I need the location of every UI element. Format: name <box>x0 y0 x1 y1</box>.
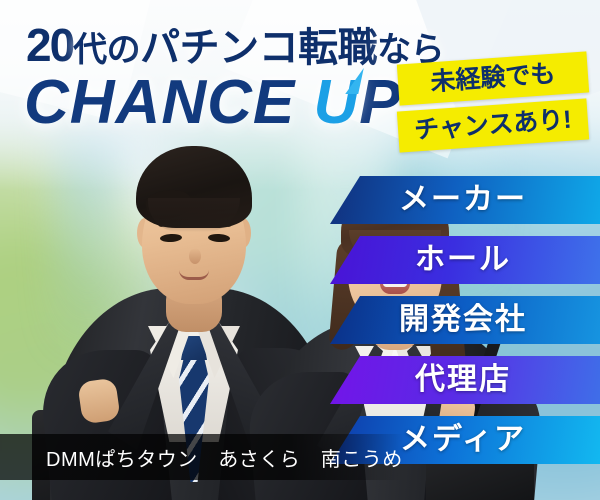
credit-text: DMMぱちタウン あさくら 南こうめ <box>0 443 403 472</box>
headline-age: 20 <box>26 19 73 71</box>
category-item-hall[interactable]: ホール <box>330 236 600 284</box>
logo-chance-up: CHANCE UP <box>24 72 402 134</box>
category-list: メーカー ホール 開発会社 代理店 メディア <box>330 176 600 464</box>
headline: 20代のパチンコ転職なら <box>26 22 444 68</box>
credit-band: DMMぱちタウン あさくら 南こうめ <box>0 434 404 480</box>
category-item-developer[interactable]: 開発会社 <box>330 296 600 344</box>
man-hand <box>77 378 120 425</box>
headline-keyword: パチンコ転職 <box>140 26 377 70</box>
category-label-agency: 代理店 <box>330 365 600 395</box>
catch-copy-badge: 未経験でも チャンスあり! <box>398 58 588 146</box>
catch-copy-line-2: チャンスあり! <box>397 98 589 152</box>
category-item-agency[interactable]: 代理店 <box>330 356 600 404</box>
category-label-hall: ホール <box>330 245 600 275</box>
logo-letter-u-with-arrow-icon: U <box>313 72 359 134</box>
logo-word-chance: CHANCE <box>24 68 295 137</box>
category-label-maker: メーカー <box>330 185 600 215</box>
advertisement-banner[interactable]: 20代のパチンコ転職なら CHANCE UP 未経験でも チャンスあり! メーカ… <box>0 0 600 500</box>
category-item-maker[interactable]: メーカー <box>330 176 600 224</box>
man-nose <box>189 248 201 264</box>
category-label-developer: 開発会社 <box>330 305 600 335</box>
headline-age-suffix: 代の <box>73 31 140 69</box>
logo-letter-p: P <box>359 68 401 137</box>
catch-copy-line-1: 未経験でも <box>397 51 589 105</box>
